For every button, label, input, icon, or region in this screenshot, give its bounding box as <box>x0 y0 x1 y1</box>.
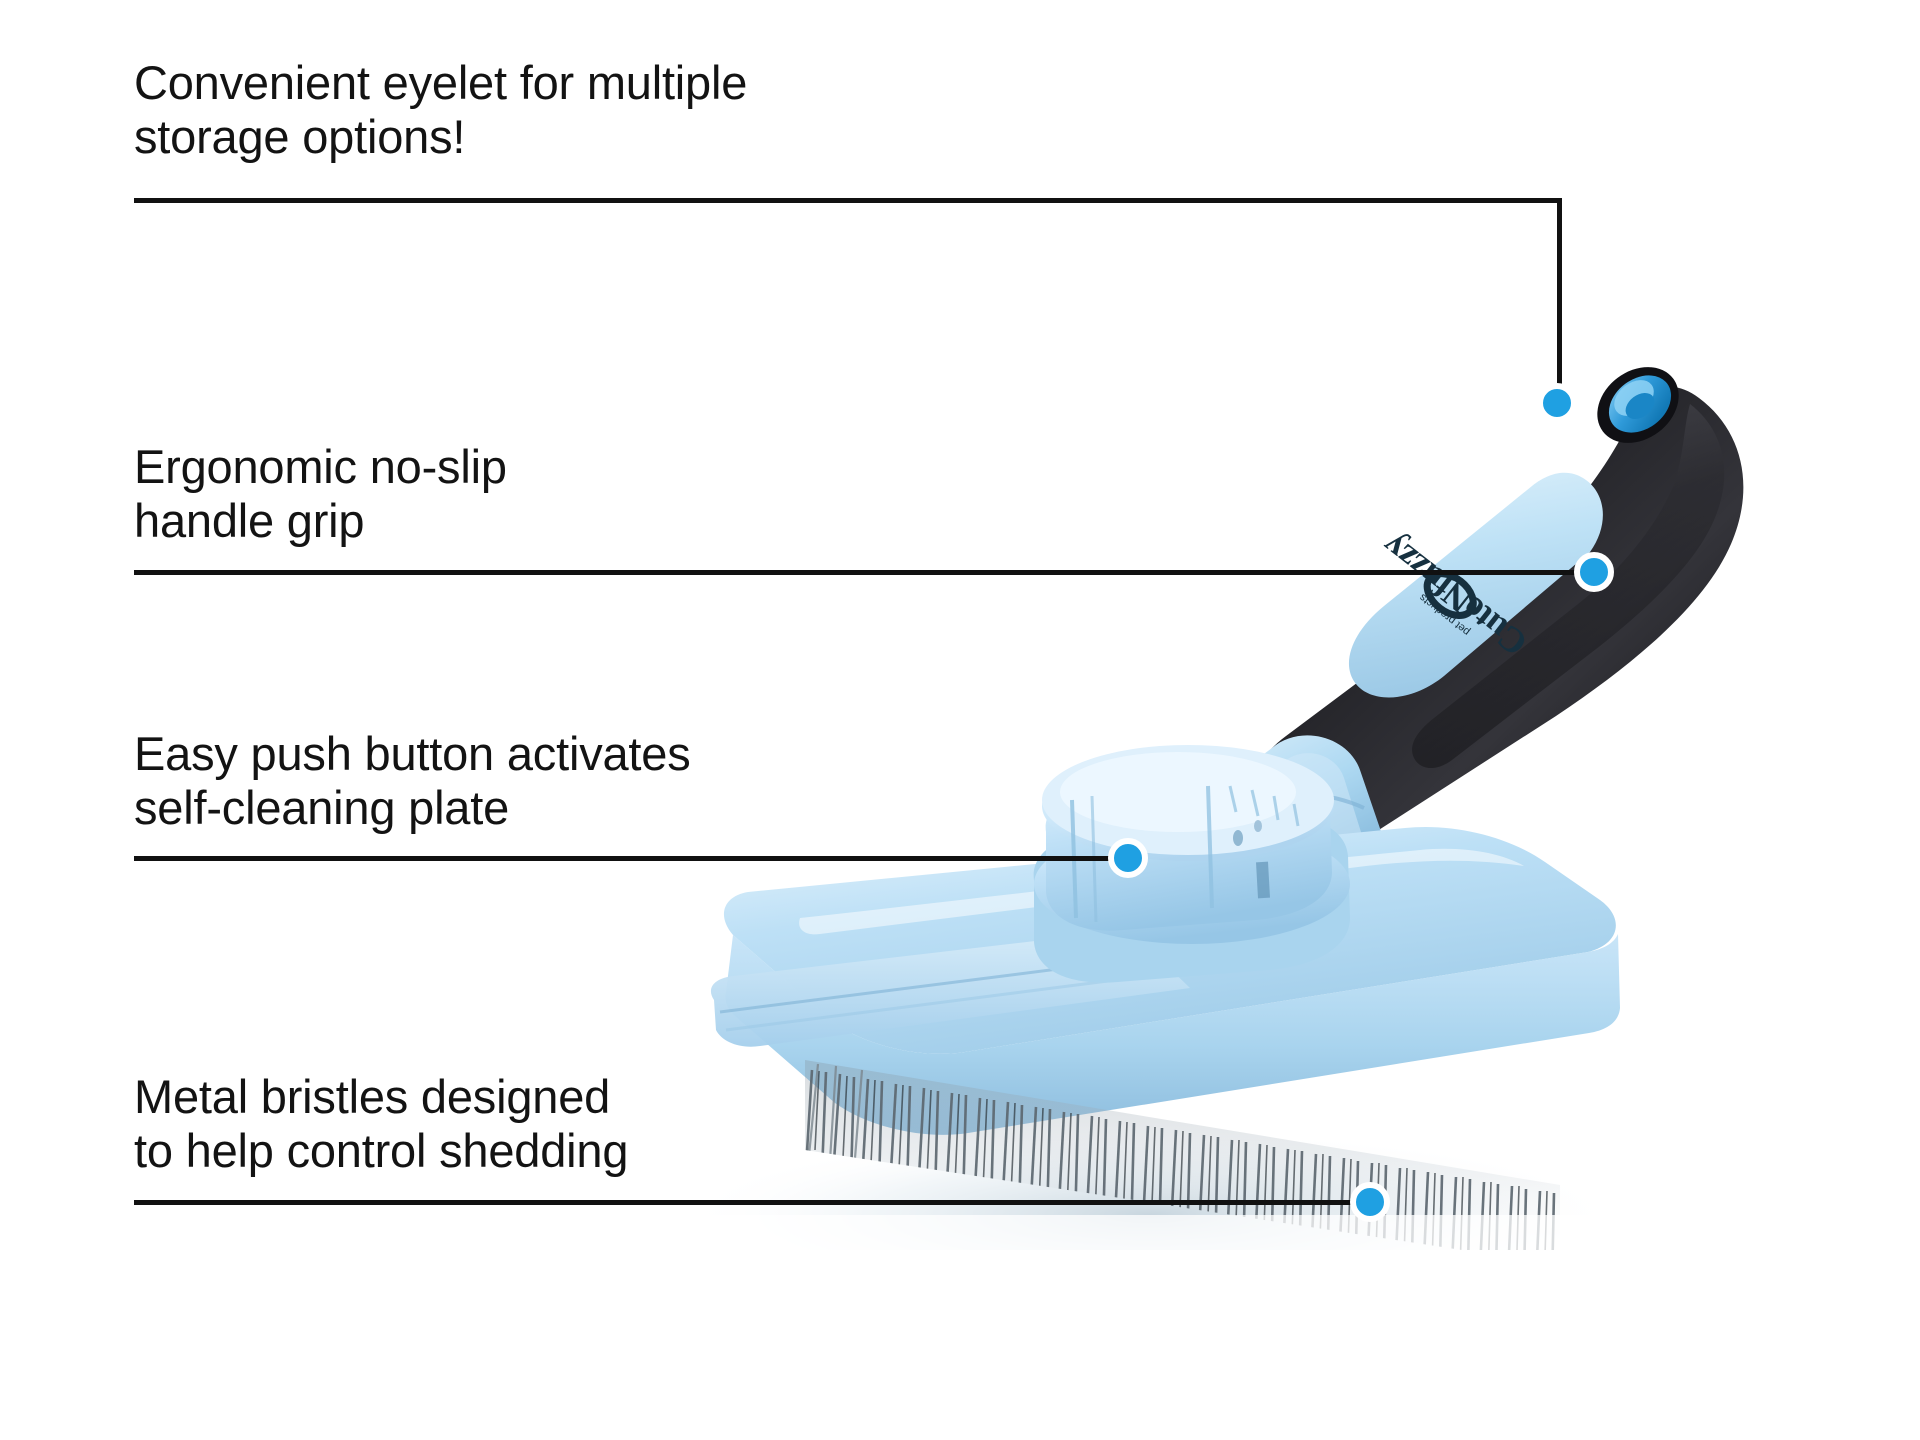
eyelet-marker[interactable] <box>1537 383 1577 423</box>
push-button-marker[interactable] <box>1108 838 1148 878</box>
handle-grip-marker[interactable] <box>1574 552 1614 592</box>
callout-bristles: Metal bristles designed to help control … <box>134 1070 628 1178</box>
callout-bristles-text: Metal bristles designed to help control … <box>134 1070 628 1178</box>
callout-grip-text: Ergonomic no-slip handle grip <box>134 440 507 548</box>
callout-push-button: Easy push button activates self-cleaning… <box>134 727 691 835</box>
callout-eyelet-text: Convenient eyelet for multiple storage o… <box>134 56 747 164</box>
callout-bristles-rule <box>134 1200 1360 1205</box>
bristles-marker[interactable] <box>1350 1182 1390 1222</box>
callout-push-button-rule <box>134 856 1118 861</box>
callout-eyelet-leader-vertical <box>1557 198 1562 403</box>
product-image: CuteNfuzzy pet products <box>0 0 1920 1440</box>
callout-eyelet: Convenient eyelet for multiple storage o… <box>134 56 747 164</box>
callout-grip-rule <box>134 570 1584 575</box>
infographic-canvas: CuteNfuzzy pet products <box>0 0 1920 1440</box>
callout-push-button-text: Easy push button activates self-cleaning… <box>134 727 691 835</box>
callout-grip: Ergonomic no-slip handle grip <box>134 440 507 548</box>
callout-eyelet-rule <box>134 198 1562 203</box>
